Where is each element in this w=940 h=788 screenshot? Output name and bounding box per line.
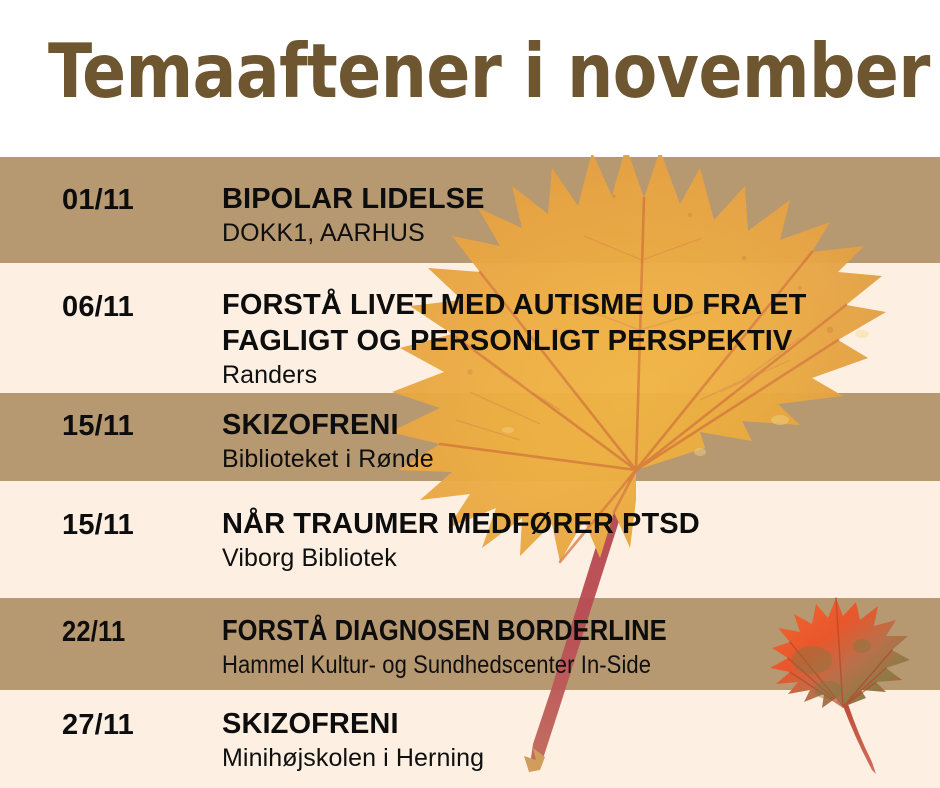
event-title: BIPOLAR LIDELSE xyxy=(222,181,485,217)
event-row-1: 01/11 BIPOLAR LIDELSE DOKK1, AARHUS xyxy=(0,157,940,263)
event-row-3: 15/11 SKIZOFRENI Biblioteket i Rønde xyxy=(0,393,940,481)
event-date: 27/11 xyxy=(62,708,134,742)
event-date: 01/11 xyxy=(62,183,134,217)
event-venue: DOKK1, AARHUS xyxy=(222,218,425,248)
event-venue: Hammel Kultur- og Sundhedscenter In-Side xyxy=(222,650,651,680)
event-row-6: 27/11 SKIZOFRENI Minihøjskolen i Herning xyxy=(0,690,940,788)
event-venue: Randers xyxy=(222,360,317,390)
event-venue: Viborg Bibliotek xyxy=(222,543,397,573)
poster-header: Temaaftener i november xyxy=(0,0,940,155)
event-row-4: 15/11 NÅR TRAUMER MEDFØRER PTSD Viborg B… xyxy=(0,481,940,598)
event-venue: Minihøjskolen i Herning xyxy=(222,743,484,773)
event-title: FORSTÅ LIVET MED AUTISME UD FRA ET FAGLI… xyxy=(222,287,806,359)
event-title: FORSTÅ DIAGNOSEN BORDERLINE xyxy=(222,613,667,649)
event-row-2: 06/11 FORSTÅ LIVET MED AUTISME UD FRA ET… xyxy=(0,263,940,393)
page-title: Temaaftener i november xyxy=(48,28,930,114)
event-date: 15/11 xyxy=(62,508,134,542)
event-date: 15/11 xyxy=(62,409,134,443)
event-date: 06/11 xyxy=(62,290,134,324)
event-row-5: 22/11 FORSTÅ DIAGNOSEN BORDERLINE Hammel… xyxy=(0,598,940,690)
event-venue: Biblioteket i Rønde xyxy=(222,444,434,474)
event-poster: Temaaftener i november 01/11 BIPOLAR LID… xyxy=(0,0,940,788)
event-title: SKIZOFRENI xyxy=(222,407,399,443)
event-date: 22/11 xyxy=(62,615,125,649)
event-title: NÅR TRAUMER MEDFØRER PTSD xyxy=(222,506,700,542)
event-title: SKIZOFRENI xyxy=(222,706,399,742)
